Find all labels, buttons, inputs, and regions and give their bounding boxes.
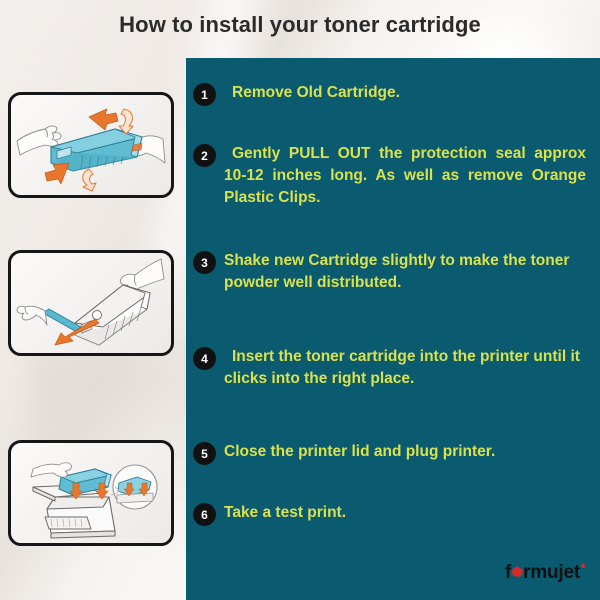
- illustration-remove-cartridge-graphic: [11, 95, 171, 195]
- step-number-badge-2: 2: [193, 144, 216, 167]
- step-number-badge-5: 5: [193, 442, 216, 465]
- illustration-remove-cartridge: [8, 92, 174, 198]
- illustration-pull-seal-graphic: [11, 253, 171, 353]
- logo-accent-dot-icon: [581, 564, 585, 568]
- magnified-detail: [113, 465, 157, 509]
- page-title: How to install your toner cartridge: [0, 12, 600, 38]
- illustration-insert-cartridge: [8, 440, 174, 546]
- ink-drop-icon: [512, 566, 523, 577]
- protection-seal: [43, 309, 81, 331]
- step-item-6: 6 Take a test print.: [186, 502, 600, 526]
- steps-panel: 1 Remove Old Cartridge. 2 Gently PULL OU…: [186, 58, 600, 600]
- illustration-pull-seal: [8, 250, 174, 356]
- step-number-badge-4: 4: [193, 347, 216, 370]
- step-number-badge-3: 3: [193, 251, 216, 274]
- step-text-2: Gently PULL OUT the protection seal appr…: [224, 143, 600, 209]
- step-item-2: 2 Gently PULL OUT the protection seal ap…: [186, 143, 600, 209]
- step-number-badge-1: 1: [193, 83, 216, 106]
- step-number-badge-6: 6: [193, 503, 216, 526]
- brand-logo: f rmujet: [505, 562, 585, 584]
- infographic-root: How to install your toner cartridge: [0, 0, 600, 600]
- step-text-6: Take a test print.: [224, 502, 600, 524]
- step-text-4: Insert the toner cartridge into the prin…: [224, 346, 600, 390]
- illustration-insert-cartridge-graphic: [11, 443, 171, 543]
- step-item-1: 1 Remove Old Cartridge.: [186, 82, 600, 106]
- step-text-1: Remove Old Cartridge.: [224, 82, 600, 104]
- brand-logo-prefix: f: [505, 562, 511, 584]
- step-text-5: Close the printer lid and plug printer.: [224, 441, 600, 463]
- step-item-3: 3 Shake new Cartridge slightly to make t…: [186, 250, 600, 294]
- step-item-5: 5 Close the printer lid and plug printer…: [186, 441, 600, 465]
- step-item-4: 4 Insert the toner cartridge into the pr…: [186, 346, 600, 390]
- brand-logo-suffix: rmujet: [523, 562, 580, 584]
- step-text-3: Shake new Cartridge slightly to make the…: [224, 250, 600, 294]
